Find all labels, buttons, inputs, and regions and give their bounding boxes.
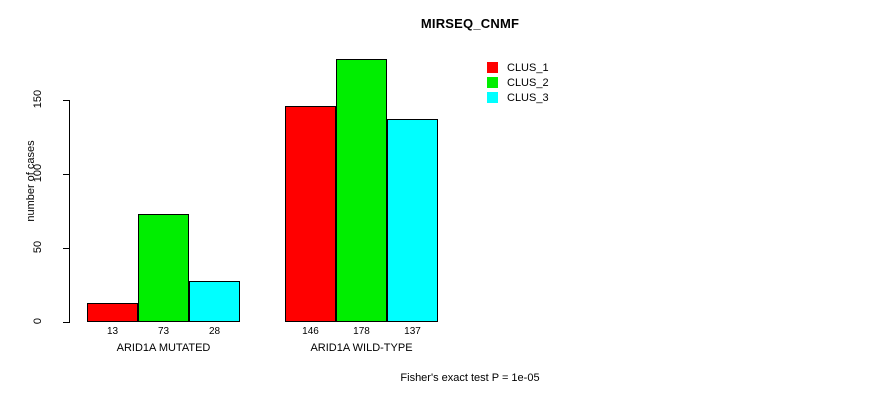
bar-value-label: 28 [189,326,240,337]
chart-title-text: MIRSEQ_CNMF [421,16,519,31]
y-axis-tick-label: 150 [32,79,44,119]
legend-item: CLUS_1 [487,60,549,75]
bar-clus_2-group2 [336,59,387,322]
legend-item: CLUS_2 [487,75,549,90]
legend-color-swatch [487,62,498,73]
y-axis-tick-label: 0 [32,301,44,341]
legend-item-label: CLUS_1 [507,62,549,74]
legend-color-swatch [487,92,498,103]
footer-annotation: Fisher's exact test P = 1e-05 [0,372,890,384]
legend-item-label: CLUS_3 [507,92,549,104]
y-axis-tick [63,100,70,101]
bar-clus_1-group1 [87,303,138,322]
bar-value-label: 178 [336,326,387,337]
y-axis-line [69,100,70,323]
bar-value-label: 146 [285,326,336,337]
legend-item-label: CLUS_2 [507,77,549,89]
bar-clus_3-group1 [189,281,240,322]
legend-color-swatch [487,77,498,88]
y-axis-tick [63,174,70,175]
y-axis-tick-label: 100 [32,153,44,193]
y-axis-tick-label: 50 [32,227,44,267]
footer-annotation-text: Fisher's exact test P = 1e-05 [400,372,539,384]
chart-legend: CLUS_1CLUS_2CLUS_3 [487,60,549,105]
chart-title: MIRSEQ_CNMF [0,16,890,31]
bar-value-label: 73 [138,326,189,337]
bar-clus_3-group2 [387,119,438,322]
y-axis-tick [63,248,70,249]
group-label: ARID1A WILD-TYPE [245,342,478,354]
y-axis-tick [63,322,70,323]
bar-clus_1-group2 [285,106,336,322]
legend-item: CLUS_3 [487,90,549,105]
bar-clus_2-group1 [138,214,189,322]
bar-value-label: 137 [387,326,438,337]
bar-chart: MIRSEQ_CNMF number of cases 050100150137… [0,0,890,400]
bar-value-label: 13 [87,326,138,337]
